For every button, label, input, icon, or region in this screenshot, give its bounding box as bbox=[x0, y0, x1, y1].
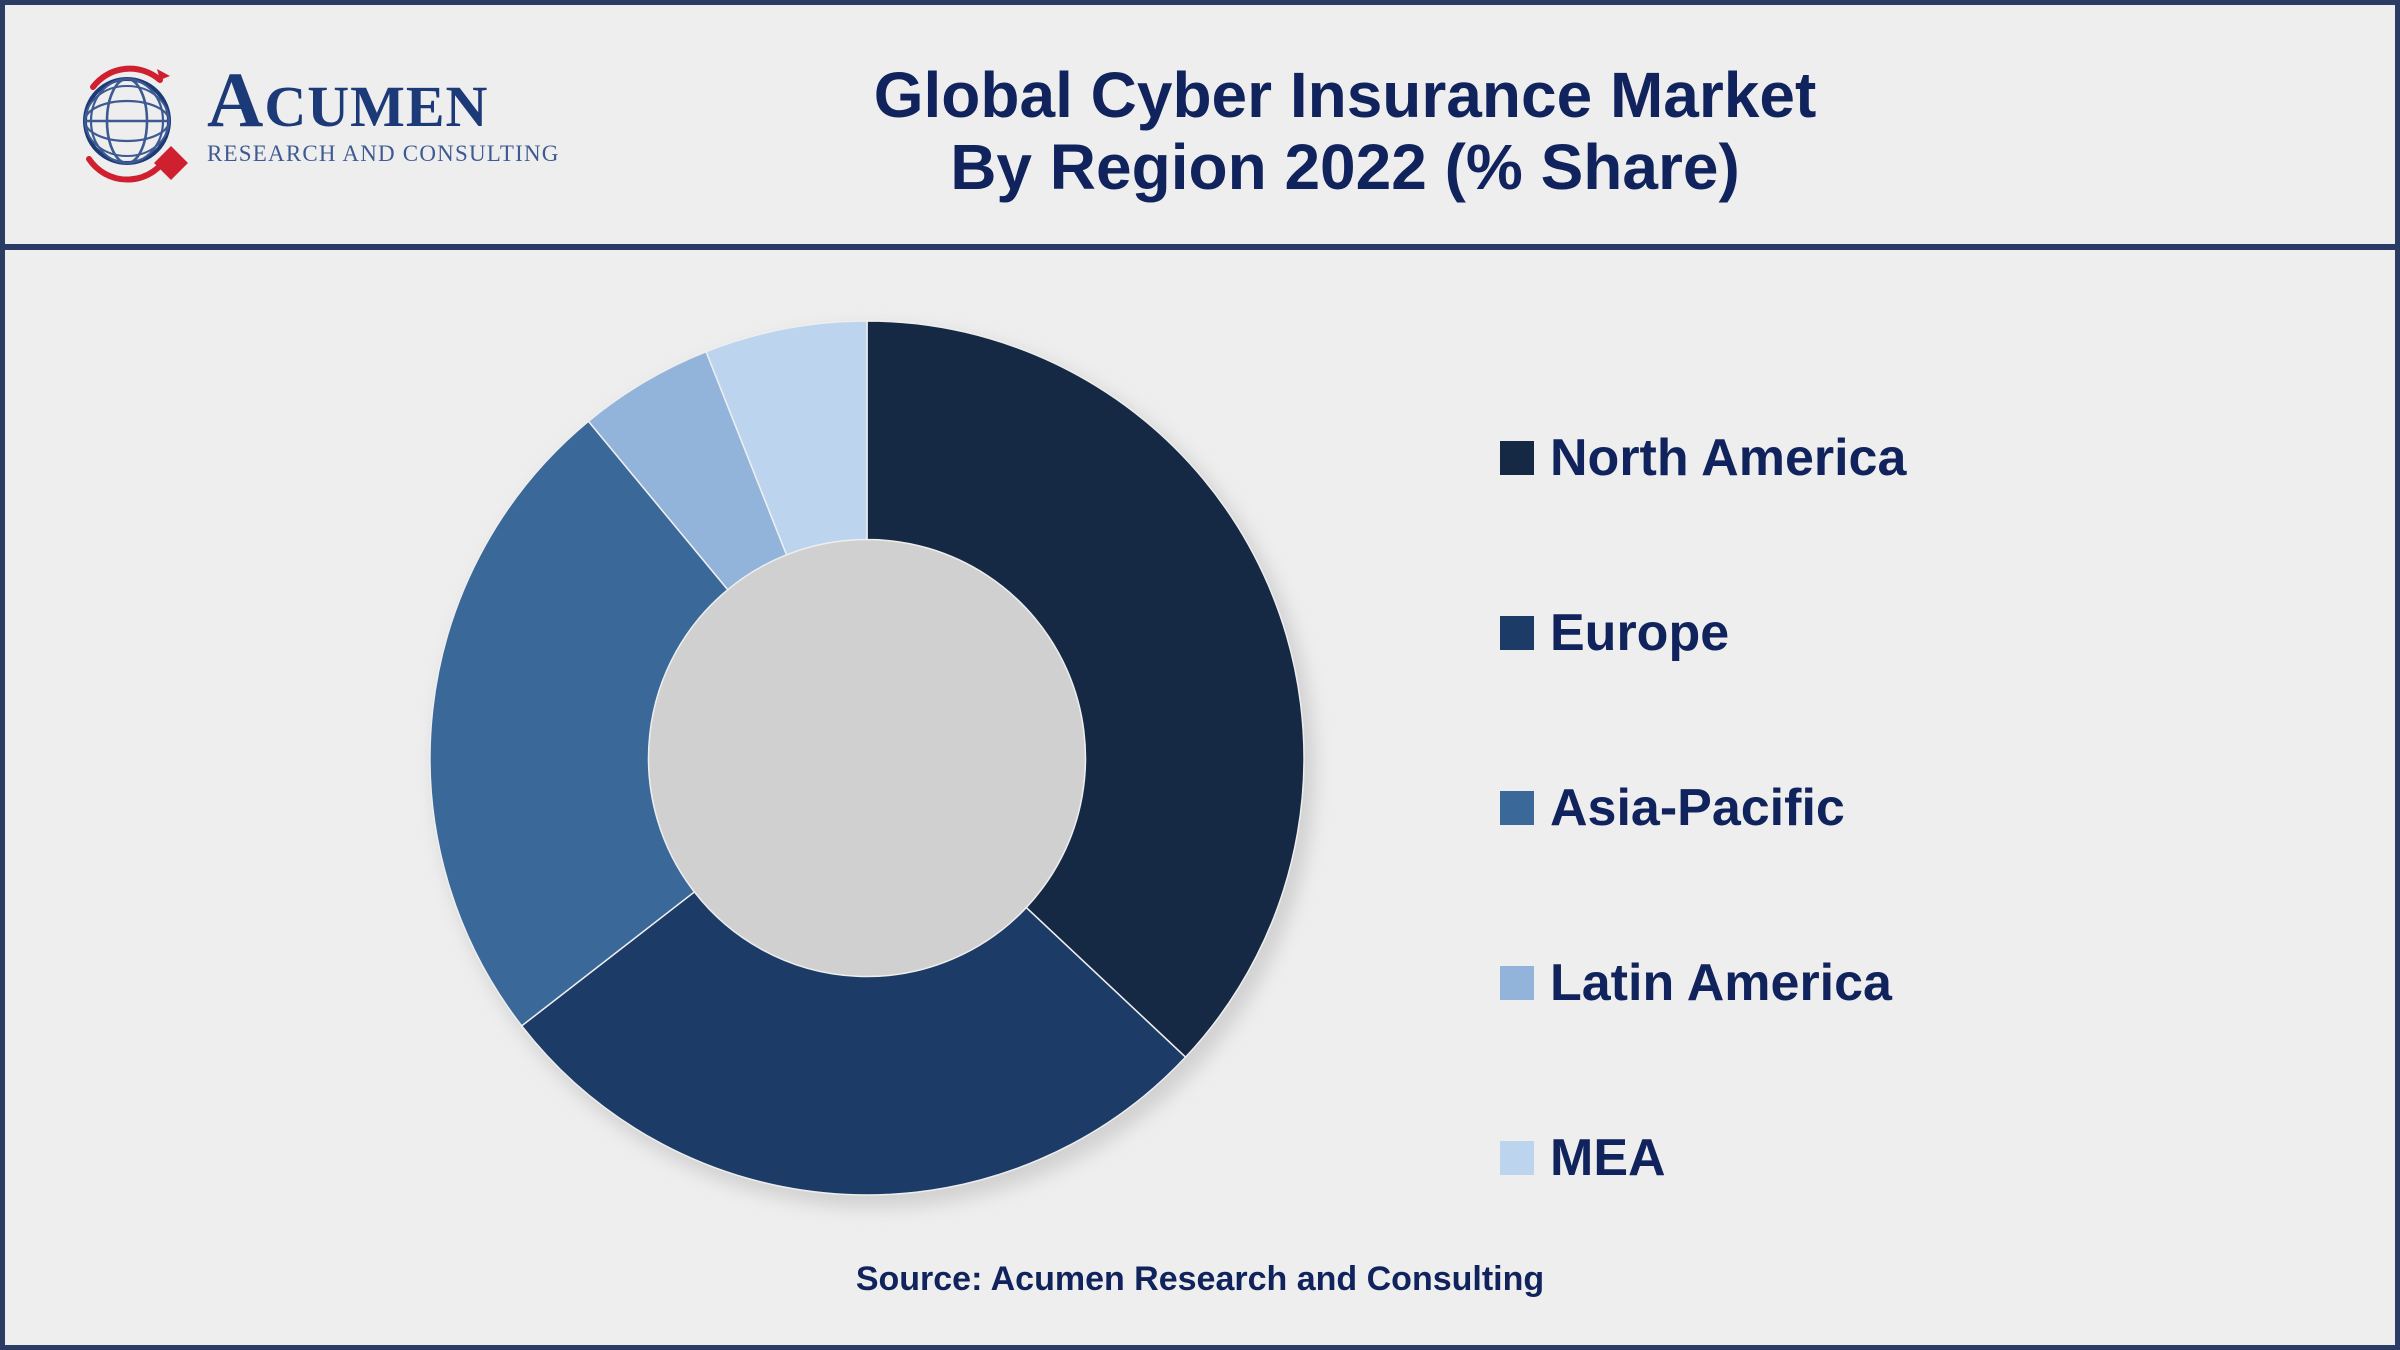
logo-wordmark: ACUMEN RESEARCH AND CONSULTING bbox=[207, 61, 567, 167]
chart-legend: North America Europe Asia-Pacific Latin … bbox=[1500, 370, 2260, 1245]
logo-brand-name: ACUMEN bbox=[207, 61, 567, 139]
legend-swatch-icon bbox=[1500, 616, 1534, 650]
acumen-logo: ACUMEN RESEARCH AND CONSULTING bbox=[67, 53, 567, 203]
donut-chart bbox=[427, 318, 1317, 1208]
legend-item-latin-america[interactable]: Latin America bbox=[1500, 895, 2260, 1070]
donut-slices bbox=[430, 321, 1304, 1195]
donut-chart-svg bbox=[427, 318, 1317, 1208]
legend-item-europe[interactable]: Europe bbox=[1500, 545, 2260, 720]
legend-item-north-america[interactable]: North America bbox=[1500, 370, 2260, 545]
chart-area: North America Europe Asia-Pacific Latin … bbox=[5, 250, 2395, 1350]
header-bar: ACUMEN RESEARCH AND CONSULTING Global Cy… bbox=[5, 5, 2395, 250]
title-line-2: By Region 2022 (% Share) bbox=[605, 132, 2085, 204]
page-title: Global Cyber Insurance Market By Region … bbox=[605, 60, 2085, 203]
legend-label: Europe bbox=[1550, 603, 1729, 663]
donut-slice[interactable] bbox=[867, 321, 1304, 1057]
legend-label: Asia-Pacific bbox=[1550, 778, 1845, 838]
source-caption: Source: Acumen Research and Consulting bbox=[5, 1260, 2395, 1299]
legend-label: MEA bbox=[1550, 1128, 1666, 1188]
legend-swatch-icon bbox=[1500, 441, 1534, 475]
globe-icon bbox=[67, 59, 197, 189]
logo-tagline: RESEARCH AND CONSULTING bbox=[207, 141, 567, 167]
logo-brand-name-smallcaps: CUMEN bbox=[264, 74, 488, 139]
legend-swatch-icon bbox=[1500, 791, 1534, 825]
chart-infographic: ACUMEN RESEARCH AND CONSULTING Global Cy… bbox=[0, 0, 2400, 1350]
legend-label: Latin America bbox=[1550, 953, 1892, 1013]
legend-swatch-icon bbox=[1500, 966, 1534, 1000]
title-line-1: Global Cyber Insurance Market bbox=[605, 60, 2085, 132]
legend-item-mea[interactable]: MEA bbox=[1500, 1070, 2260, 1245]
legend-label: North America bbox=[1550, 428, 1906, 488]
legend-item-asia-pacific[interactable]: Asia-Pacific bbox=[1500, 720, 2260, 895]
legend-swatch-icon bbox=[1500, 1141, 1534, 1175]
